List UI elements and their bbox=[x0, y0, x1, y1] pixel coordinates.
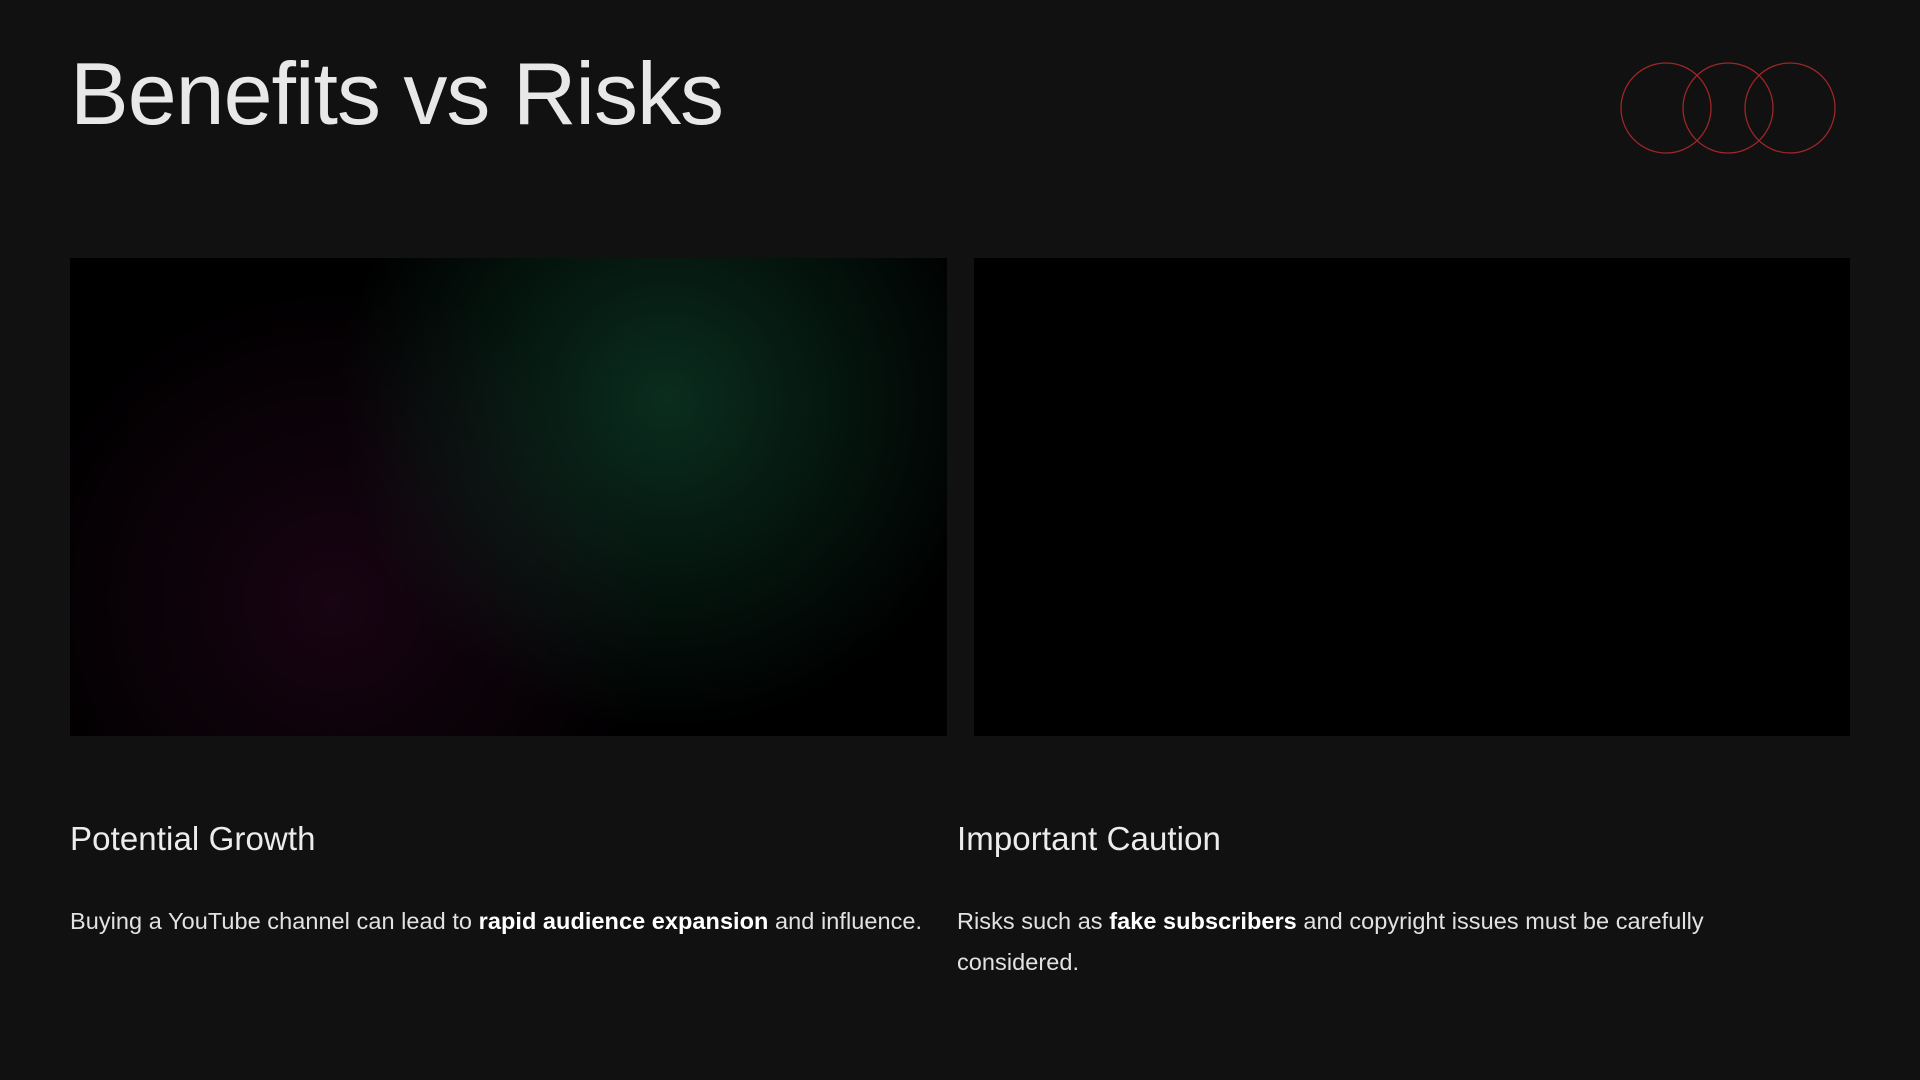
slide-header: Benefits vs Risks bbox=[70, 50, 1850, 160]
text-column-growth: Potential Growth Buying a YouTube channe… bbox=[70, 820, 930, 983]
growth-media bbox=[70, 258, 947, 736]
column-body-growth: Buying a YouTube channel can lead to rap… bbox=[70, 901, 930, 942]
page-title: Benefits vs Risks bbox=[70, 50, 1850, 138]
growth-image-card[interactable] bbox=[70, 258, 947, 736]
cards-row bbox=[70, 258, 1850, 736]
caution-image-card[interactable] bbox=[974, 258, 1851, 736]
column-heading-caution: Important Caution bbox=[957, 820, 1817, 858]
growth-backdrop bbox=[70, 258, 947, 736]
caution-media bbox=[974, 258, 1851, 736]
text-column-caution: Important Caution Risks such as fake sub… bbox=[957, 820, 1817, 983]
caution-backdrop bbox=[974, 258, 1851, 736]
body-text-before: Buying a YouTube channel can lead to bbox=[70, 908, 479, 934]
three-circles-decoration-icon bbox=[1610, 58, 1850, 158]
body-text-after: and influence. bbox=[768, 908, 922, 934]
slide-root: Benefits vs Risks bbox=[0, 0, 1920, 1080]
text-row: Potential Growth Buying a YouTube channe… bbox=[70, 820, 1850, 983]
column-heading-growth: Potential Growth bbox=[70, 820, 930, 858]
column-body-caution: Risks such as fake subscribers and copyr… bbox=[957, 901, 1817, 983]
body-text-before: Risks such as bbox=[957, 908, 1109, 934]
body-text-bold: fake subscribers bbox=[1109, 908, 1297, 934]
body-text-bold: rapid audience expansion bbox=[479, 908, 769, 934]
